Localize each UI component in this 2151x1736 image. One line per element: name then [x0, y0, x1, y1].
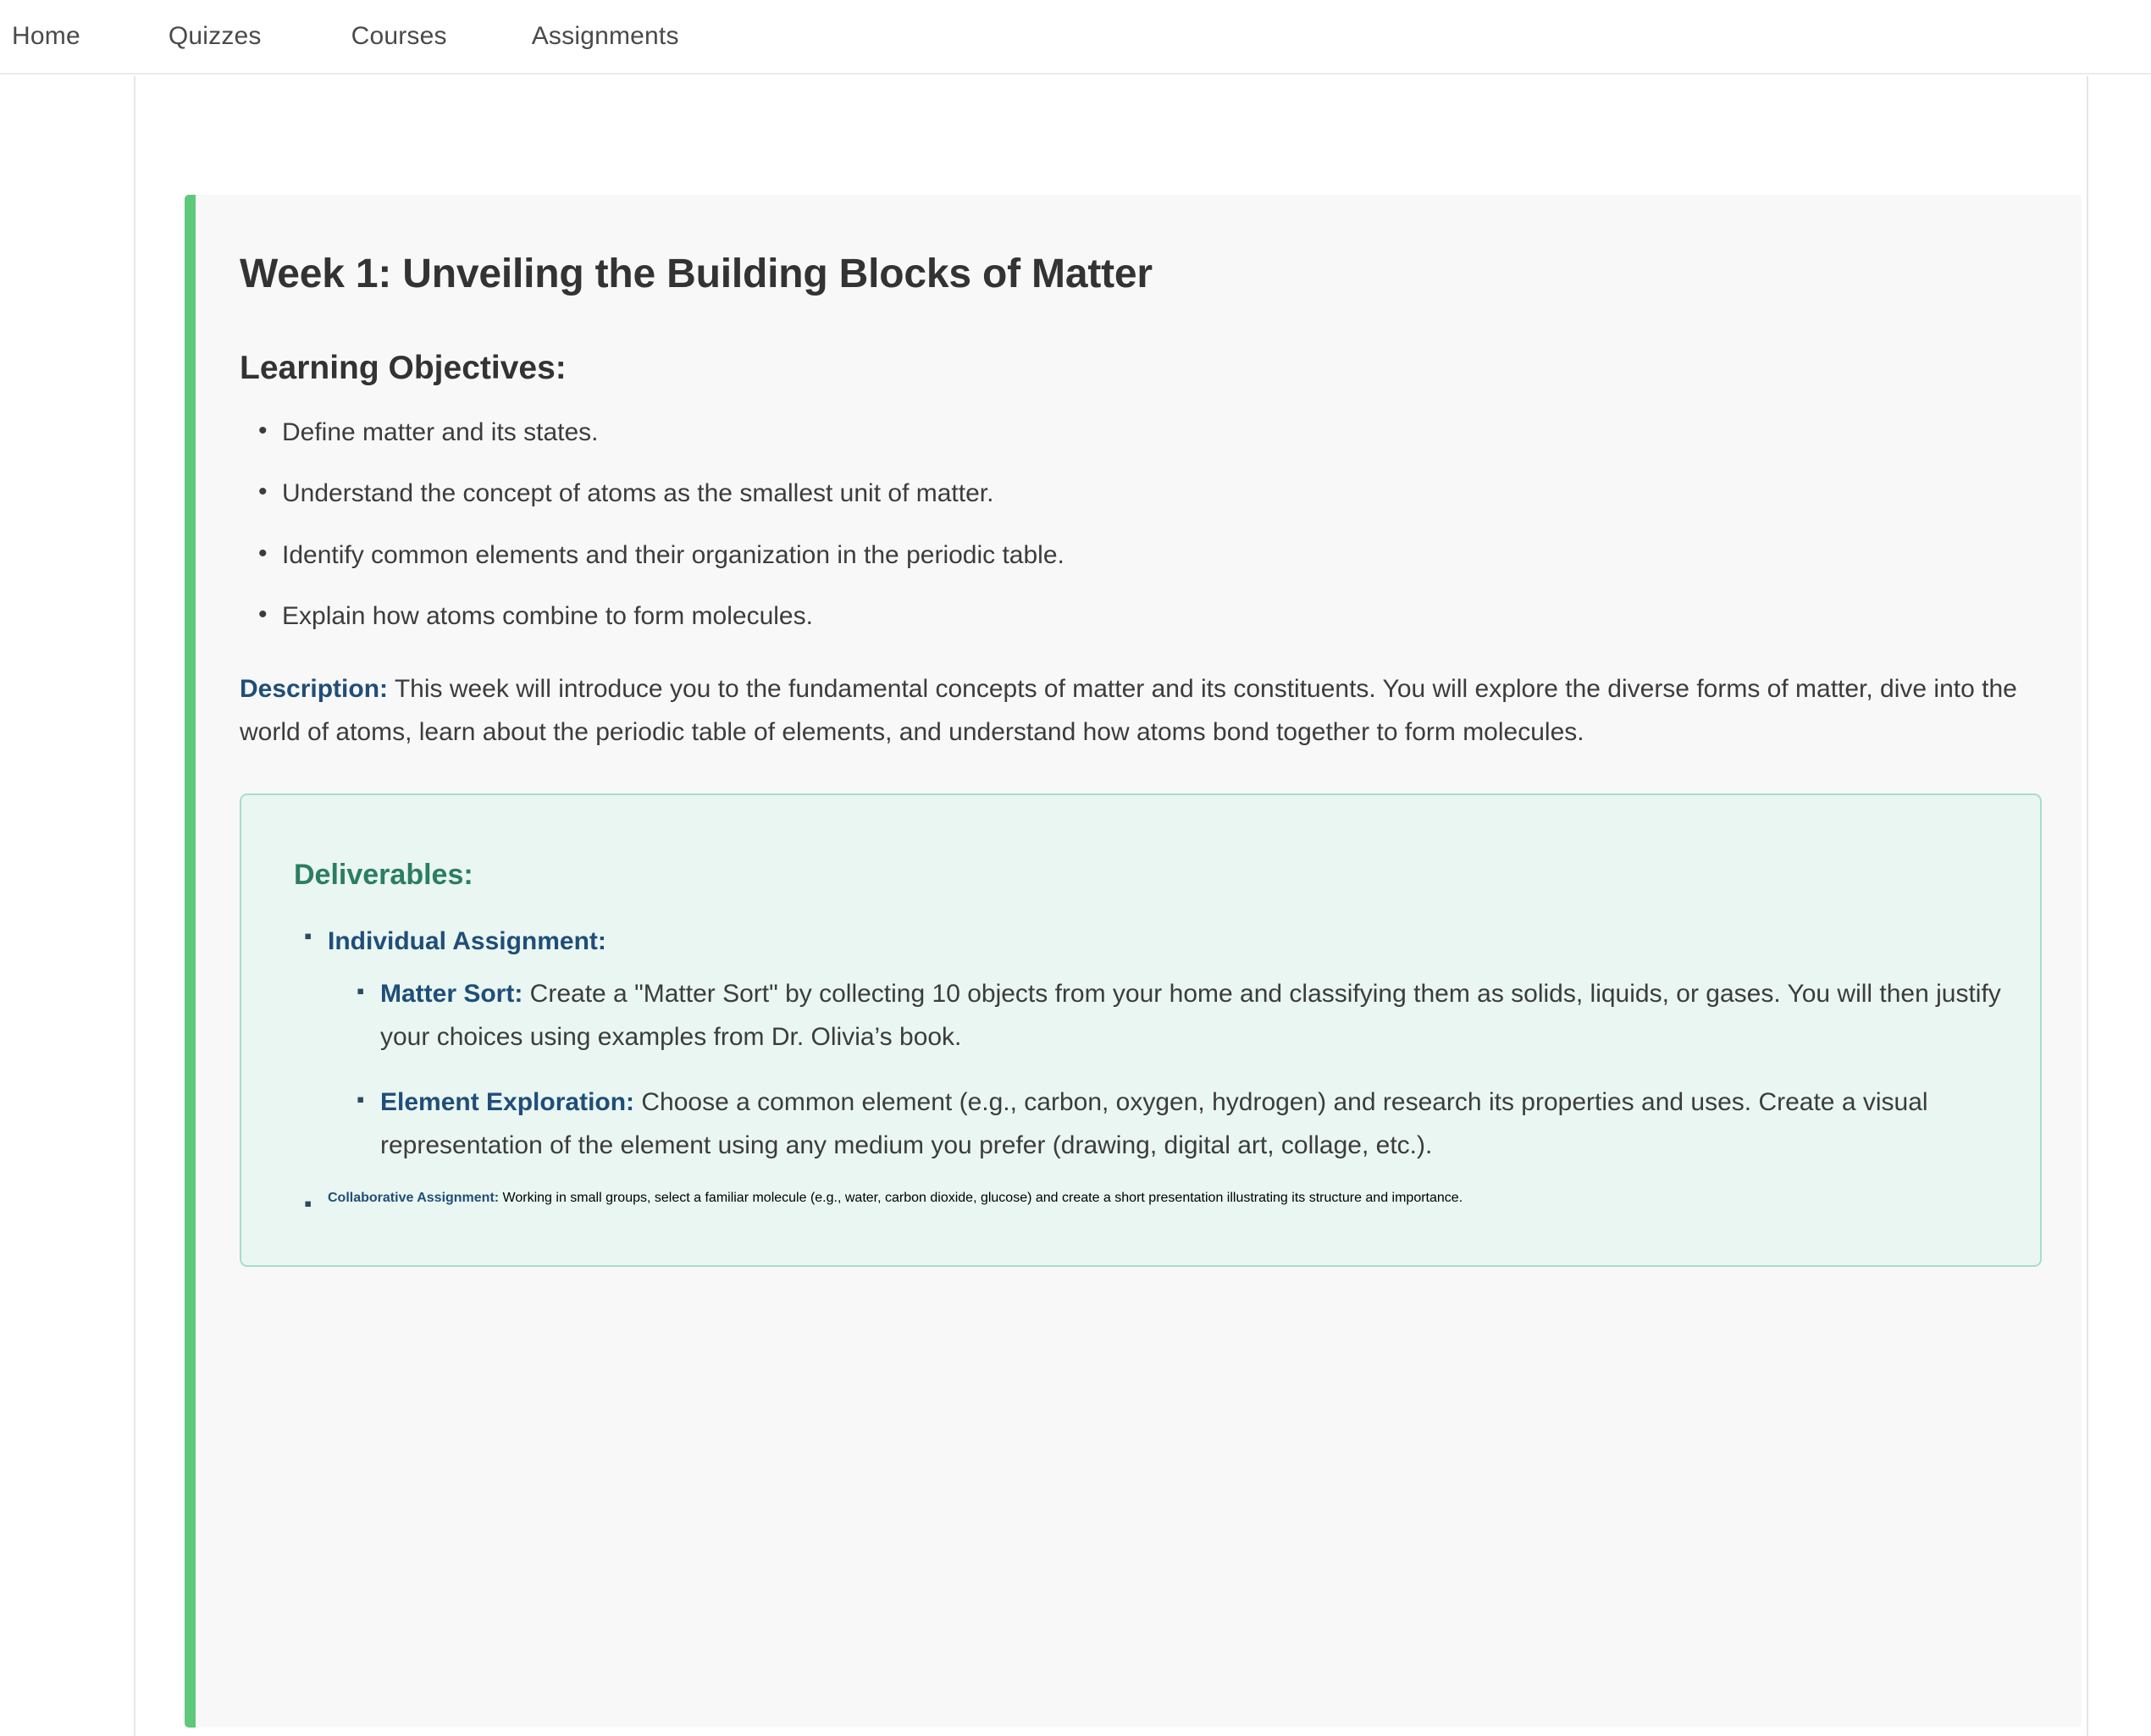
nav-item-assignments[interactable]: Assignments [532, 22, 679, 51]
individual-assignment-label: Individual Assignment: [328, 927, 606, 955]
matter-sort-text: Create a "Matter Sort" by collecting 10 … [380, 980, 2001, 1051]
matter-sort-label: Matter Sort: [380, 980, 523, 1008]
individual-assignment-sublist: Matter Sort: Create a "Matter Sort" by c… [328, 972, 2006, 1167]
week-card-inner: Week 1: Unveiling the Building Blocks of… [196, 195, 2082, 1267]
list-item: Explain how atoms combine to form molecu… [282, 598, 2031, 635]
week-heading: Week 1: Unveiling the Building Blocks of… [240, 252, 2031, 297]
list-item-collaborative-assignment: Collaborative Assignment: Working in sma… [328, 1191, 2006, 1206]
week-card: Week 1: Unveiling the Building Blocks of… [185, 195, 2082, 1728]
element-exploration-label: Element Exploration: [380, 1088, 634, 1116]
collaborative-assignment-label: Collaborative Assignment: [328, 1191, 499, 1205]
main-content-area: Chemistry Unit: Exploring the Building B… [137, 76, 2087, 1736]
deliverables-box: Deliverables: Individual Assignment: Mat… [240, 793, 2042, 1267]
list-item-individual-assignment: Individual Assignment: Matter Sort: Crea… [328, 923, 2006, 1167]
list-item-element-exploration: Element Exploration: Choose a common ele… [380, 1081, 2006, 1167]
description-text: This week will introduce you to the fund… [240, 675, 2017, 746]
description-paragraph: Description: This week will introduce yo… [240, 667, 2035, 754]
left-sidebar-rail [0, 76, 135, 1736]
list-item: Identify common elements and their organ… [282, 537, 2031, 574]
nav-item-courses[interactable]: Courses [351, 22, 447, 51]
deliverables-heading: Deliverables: [275, 860, 2006, 891]
learning-objectives-heading: Learning Objectives: [240, 351, 2031, 387]
description-label: Description: [240, 675, 388, 703]
learning-objectives-list: Define matter and its states. Understand… [240, 414, 2031, 635]
list-item: Understand the concept of atoms as the s… [282, 475, 2031, 512]
deliverables-list: Individual Assignment: Matter Sort: Crea… [275, 923, 2006, 1206]
collaborative-assignment-text: Working in small groups, select a famili… [499, 1191, 1463, 1205]
nav-item-home[interactable]: Home [12, 22, 80, 51]
list-item-matter-sort: Matter Sort: Create a "Matter Sort" by c… [380, 972, 2006, 1059]
list-item: Define matter and its states. [282, 414, 2031, 451]
top-navigation-bar: Home Quizzes Courses Assignments [0, 0, 2151, 75]
nav-item-quizzes[interactable]: Quizzes [169, 22, 262, 51]
right-sidebar-rail [2087, 76, 2151, 1736]
